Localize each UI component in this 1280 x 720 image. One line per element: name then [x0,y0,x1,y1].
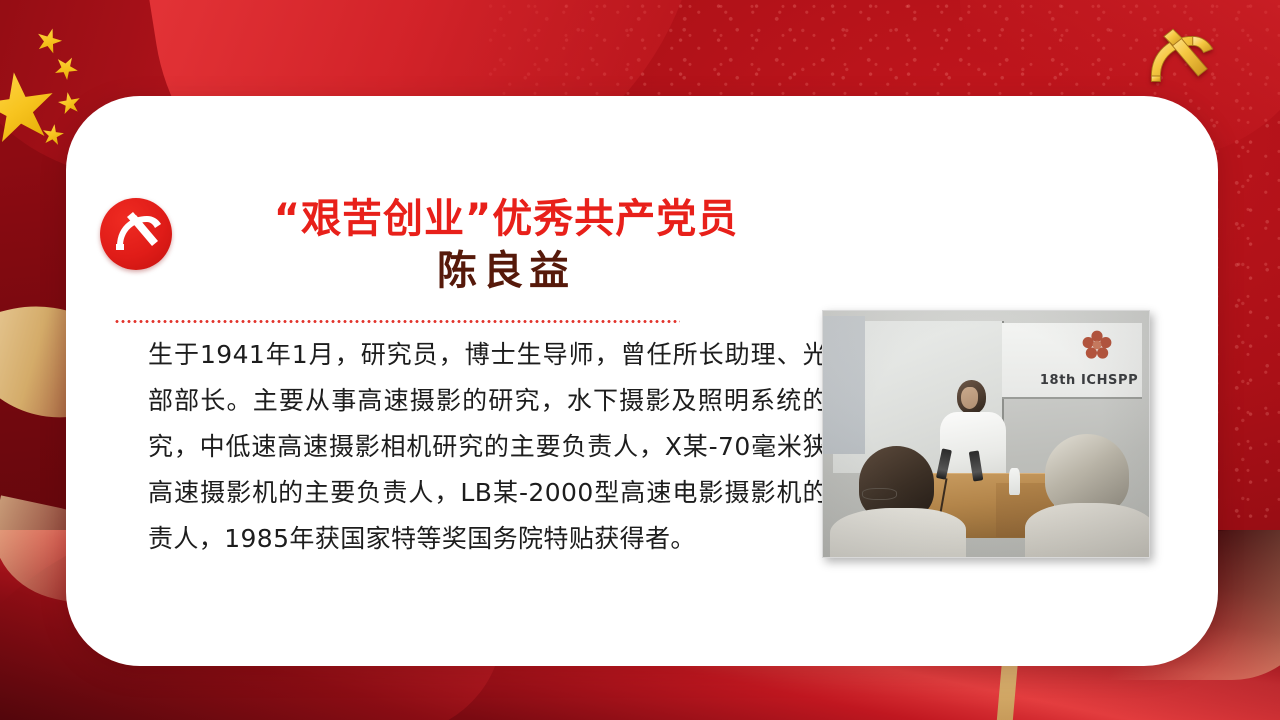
flag-star-small-1-icon [33,25,65,57]
flag-star-small-4-icon [41,123,66,148]
content-card: “艰苦创业”优秀共产党员 陈良益 生于1941年1月，研究员，博士生导师，曾任所… [66,96,1218,666]
conference-speech-photo: 18th ICHSPP [822,310,1150,558]
dotted-divider [114,320,680,323]
slide-root: “艰苦创业”优秀共产党员 陈良益 生于1941年1月，研究员，博士生导师，曾任所… [0,0,1280,720]
person-name: 陈良益 [186,245,826,297]
hammer-and-sickle-gold-emblem-icon [1136,22,1228,94]
photo-vignette [823,311,1149,557]
flag-star-small-2-icon [50,52,83,85]
page-title: “艰苦创业”优秀共产党员 [186,196,826,243]
flag-star-small-3-icon [56,90,83,117]
title-block: “艰苦创业”优秀共产党员 陈良益 [186,196,826,297]
biography-paragraph: 生于1941年1月，研究员，博士生导师，曾任所长助理、光工部部长。主要从事高速摄… [148,332,854,562]
photo-content: 18th ICHSPP [823,311,1149,557]
cpc-party-emblem-badge-icon [100,198,172,270]
